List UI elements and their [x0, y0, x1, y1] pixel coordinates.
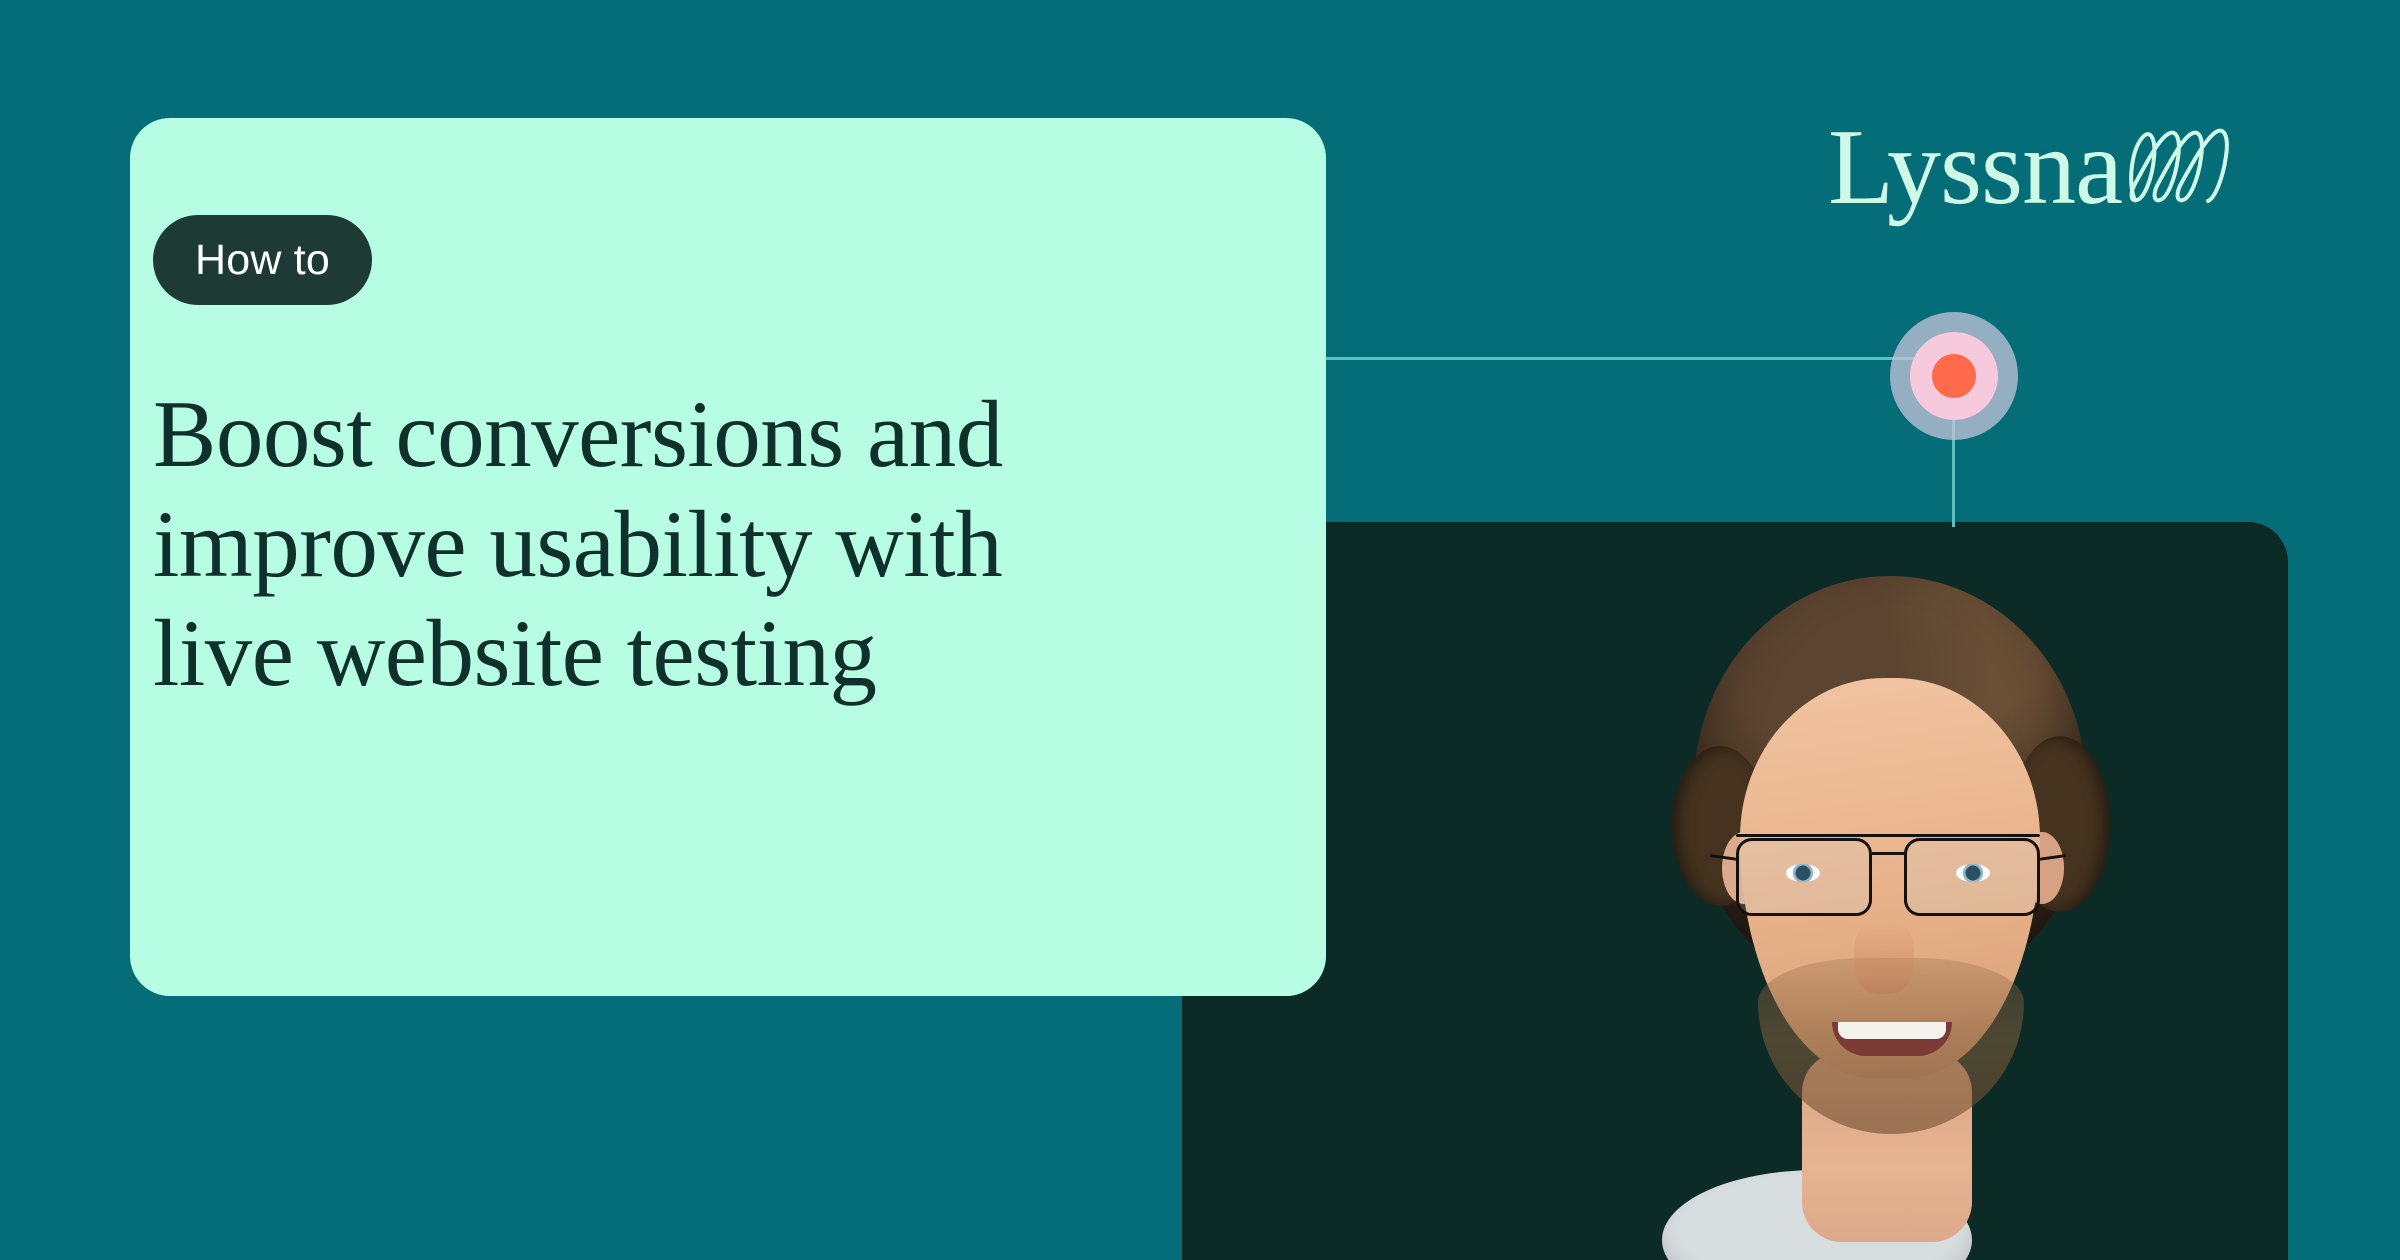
click-target-marker — [1890, 312, 2018, 440]
horizontal-guide-line — [1326, 357, 1920, 360]
content-card: How to Boost conversions and improve usa… — [130, 118, 1326, 996]
teeth — [1838, 1022, 1946, 1039]
portrait-subject — [1482, 582, 2222, 1260]
glasses-top-bar — [1736, 834, 2040, 837]
nose — [1854, 920, 1914, 994]
eye-right — [1956, 864, 1990, 882]
click-target-ring — [1910, 332, 1998, 420]
eye-left — [1786, 864, 1820, 882]
click-target-core — [1932, 354, 1976, 398]
page-title: Boost conversions and improve usability … — [153, 380, 1153, 709]
glasses-bridge — [1872, 852, 1906, 855]
lyssna-squiggle-mark — [2126, 128, 2231, 211]
portrait-photo — [1182, 522, 2288, 1260]
category-badge-label: How to — [195, 239, 330, 282]
promo-graphic-canvas: How to Boost conversions and improve usa… — [0, 0, 2400, 1260]
eyeglasses-icon — [1724, 830, 2054, 922]
lyssna-logo: Lyssna — [1828, 118, 2231, 217]
category-badge: How to — [153, 215, 372, 305]
lyssna-wordmark: Lyssna — [1828, 118, 2122, 217]
mouth — [1832, 1022, 1952, 1056]
